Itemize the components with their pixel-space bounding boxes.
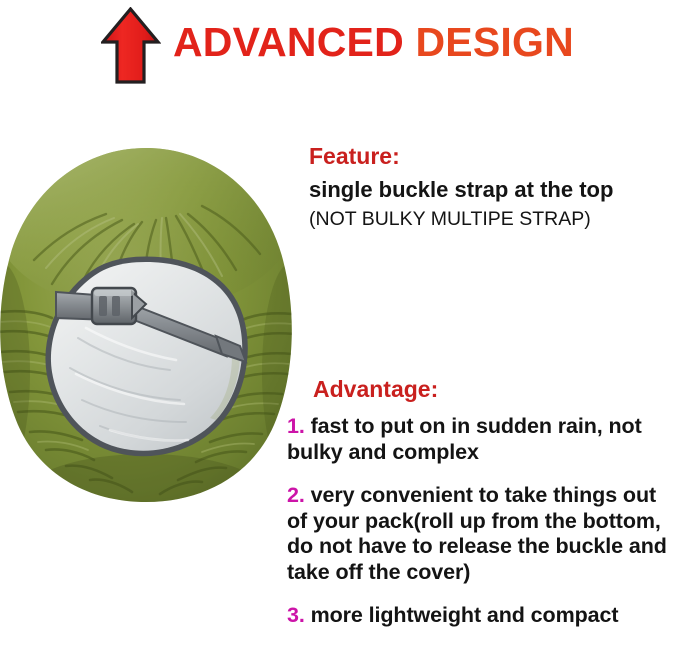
- feature-line-secondary: (NOT BULKY MULTIPE STRAP): [309, 205, 679, 234]
- advantage-item-2-text: very convenient to take things out of yo…: [287, 483, 667, 584]
- title-word-design: DESIGN: [416, 19, 574, 65]
- advantage-block: Advantage:: [313, 374, 679, 408]
- advantage-heading: Advantage:: [313, 374, 679, 404]
- up-arrow-icon: [101, 7, 161, 85]
- product-image: [0, 142, 298, 508]
- advantage-item-3-number: 3.: [287, 603, 305, 627]
- advantage-item-1-text: fast to put on in sudden rain, not bulky…: [287, 414, 642, 464]
- feature-heading: Feature:: [309, 141, 679, 171]
- feature-block: Feature: single buckle strap at the top …: [309, 141, 679, 234]
- advantage-item-3: 3. more lightweight and compact: [287, 603, 679, 629]
- page-title: ADVANCED DESIGN: [173, 18, 574, 66]
- advantage-item-1-number: 1.: [287, 414, 305, 438]
- advantage-item-2: 2. very convenient to take things out of…: [287, 483, 679, 585]
- title-word-advanced: ADVANCED: [173, 19, 404, 65]
- header-banner: ADVANCED DESIGN: [0, 0, 679, 100]
- inner-panel-group: [51, 262, 242, 451]
- advantage-item-1: 1. fast to put on in sudden rain, not bu…: [287, 414, 679, 465]
- product-infographic: ADVANCED DESIGN: [0, 0, 679, 645]
- feature-line-primary: single buckle strap at the top: [309, 175, 679, 205]
- advantage-item-3-text: more lightweight and compact: [311, 603, 619, 627]
- advantage-item-2-number: 2.: [287, 483, 305, 507]
- advantage-list: 1. fast to put on in sudden rain, not bu…: [287, 414, 679, 629]
